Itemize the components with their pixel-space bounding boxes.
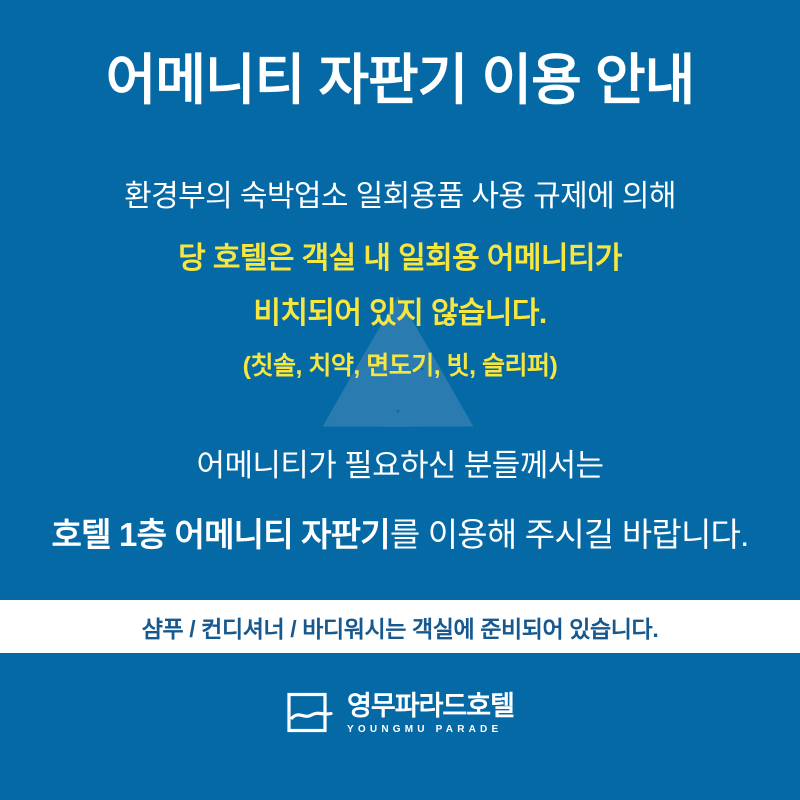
footer-logo: 영무파라드호텔 YOUNGMU PARADE (0, 690, 800, 738)
info-banner-text: 샴푸 / 컨디셔너 / 바디워시는 객실에 준비되어 있습니다. (142, 610, 659, 644)
need-amenity-line: 어메니티가 필요하신 분들께서는 (0, 447, 800, 486)
info-banner: 샴푸 / 컨디셔너 / 바디워시는 객실에 준비되어 있습니다. (0, 600, 800, 653)
regulation-line: 환경부의 숙박업소 일회용품 사용 규제에 의해 (0, 178, 800, 216)
brand-name-en: YOUNGMU PARADE (347, 725, 502, 735)
vending-instruction-line: 호텔 1층 어메니티 자판기를 이용해 주시길 바랍니다. (0, 514, 800, 555)
lower-text-block: 어메니티가 필요하신 분들께서는 호텔 1층 어메니티 자판기를 이용해 주시길… (0, 447, 800, 555)
no-amenity-line-1: 당 호텔은 객실 내 일회용 어메니티가 (0, 240, 800, 278)
amenity-items-list: (칫솔, 치약, 면도기, 빗, 슬리퍼) (0, 351, 800, 381)
spacer (0, 277, 800, 295)
no-amenity-line-2: 비치되어 있지 않습니다. (0, 295, 800, 333)
brand-name-ko: 영무파라드호텔 (347, 693, 514, 720)
page-title: 어메니티 자판기 이용 안내 (0, 52, 800, 110)
vending-location-emphasis: 호텔 1층 어메니티 자판기 (52, 516, 390, 553)
logo-lockup: 영무파라드호텔 YOUNGMU PARADE (286, 690, 514, 738)
square-wave-logo-icon (286, 690, 334, 738)
upper-text-block: 환경부의 숙박업소 일회용품 사용 규제에 의해 당 호텔은 객실 내 일회용 … (0, 178, 800, 381)
spacer (0, 216, 800, 240)
spacer (0, 486, 800, 514)
poster-root: 어메니티 자판기 이용 안내 환경부의 숙박업소 일회용품 사용 규제에 의해 … (0, 0, 800, 800)
spacer (0, 333, 800, 351)
vending-instruction-rest: 를 이용해 주시길 바랍니다. (390, 516, 749, 553)
logo-wordmark: 영무파라드호텔 YOUNGMU PARADE (347, 693, 514, 735)
